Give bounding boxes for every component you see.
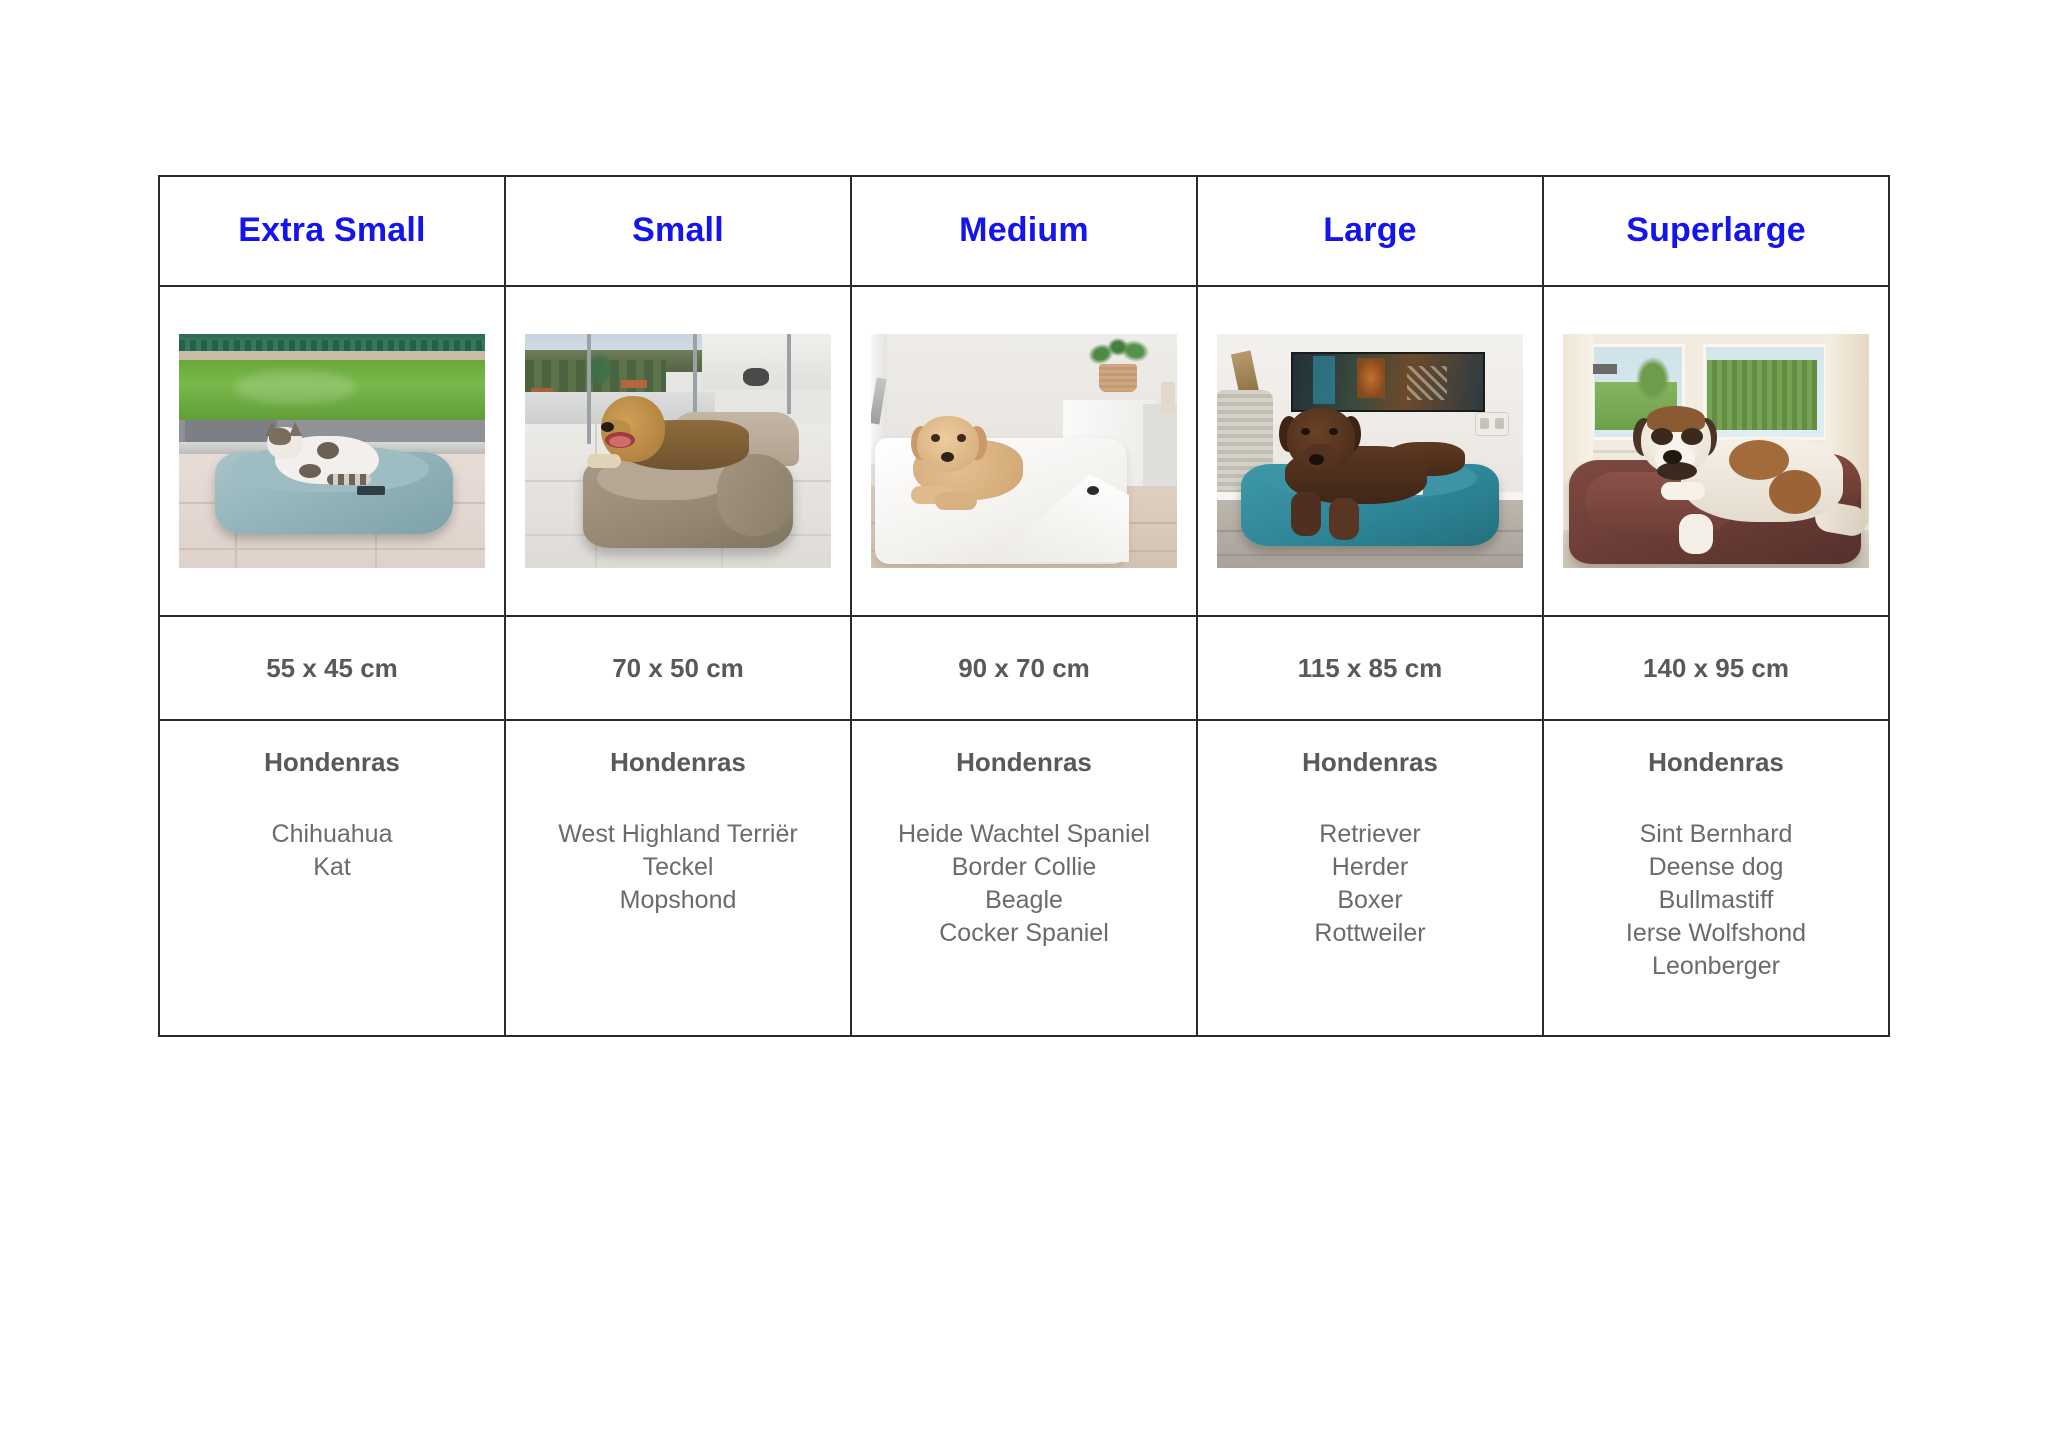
image-cell-superlarge	[1543, 286, 1889, 616]
breed-section-title: Hondenras	[506, 747, 850, 778]
header-cell-extra-small: Extra Small	[159, 176, 505, 286]
table-header-row: Extra Small Small Medium Large Superlarg…	[159, 176, 1889, 286]
terrier-on-taupe-leather-dog-bed-photo	[525, 334, 831, 568]
dimension-cell-large: 115 x 85 cm	[1197, 616, 1543, 720]
dog-bed-size-table: Extra Small Small Medium Large Superlarg…	[158, 175, 1890, 1037]
breed-item: Chihuahua	[160, 818, 504, 851]
breed-item: Leonberger	[1544, 950, 1888, 983]
product-photo-medium	[871, 334, 1177, 568]
breed-cell-small: Hondenras West Highland Terriër Teckel M…	[505, 720, 851, 1036]
size-header-label: Large	[1198, 212, 1542, 249]
breed-item: West Highland Terriër	[506, 818, 850, 851]
table-image-row	[159, 286, 1889, 616]
breed-cell-medium: Hondenras Heide Wachtel Spaniel Border C…	[851, 720, 1197, 1036]
dimension-cell-medium: 90 x 70 cm	[851, 616, 1197, 720]
breed-item: Heide Wachtel Spaniel	[852, 818, 1196, 851]
breed-item: Beagle	[852, 884, 1196, 917]
breed-item: Deense dog	[1544, 851, 1888, 884]
breed-cell-large: Hondenras Retriever Herder Boxer Rottwei…	[1197, 720, 1543, 1036]
breed-item: Herder	[1198, 851, 1542, 884]
table-dimension-row: 55 x 45 cm 70 x 50 cm 90 x 70 cm 115 x 8…	[159, 616, 1889, 720]
cat-on-light-blue-dog-bed-photo	[179, 334, 485, 568]
image-cell-large	[1197, 286, 1543, 616]
breed-section-title: Hondenras	[1544, 747, 1888, 778]
dimension-cell-extra-small: 55 x 45 cm	[159, 616, 505, 720]
size-header-label: Extra Small	[160, 212, 504, 249]
dimension-label: 115 x 85 cm	[1198, 653, 1542, 684]
product-photo-superlarge	[1563, 334, 1869, 568]
image-cell-medium	[851, 286, 1197, 616]
size-header-label: Medium	[852, 212, 1196, 249]
breed-item: Boxer	[1198, 884, 1542, 917]
product-photo-small	[525, 334, 831, 568]
breed-cell-superlarge: Hondenras Sint Bernhard Deense dog Bullm…	[1543, 720, 1889, 1036]
dimension-cell-superlarge: 140 x 95 cm	[1543, 616, 1889, 720]
saint-bernard-on-brown-dog-bed-photo	[1563, 334, 1869, 568]
breed-item: Rottweiler	[1198, 917, 1542, 950]
breed-item: Bullmastiff	[1544, 884, 1888, 917]
breed-item: Kat	[160, 851, 504, 884]
product-photo-large	[1217, 334, 1523, 568]
dimension-label: 90 x 70 cm	[852, 653, 1196, 684]
dimension-label: 55 x 45 cm	[160, 653, 504, 684]
size-header-label: Small	[506, 212, 850, 249]
breed-item: Mopshond	[506, 884, 850, 917]
breed-section-title: Hondenras	[160, 747, 504, 778]
dimension-cell-small: 70 x 50 cm	[505, 616, 851, 720]
header-cell-medium: Medium	[851, 176, 1197, 286]
breed-item: Sint Bernhard	[1544, 818, 1888, 851]
breed-item: Teckel	[506, 851, 850, 884]
breed-section-title: Hondenras	[852, 747, 1196, 778]
breed-item: Border Collie	[852, 851, 1196, 884]
size-header-label: Superlarge	[1544, 212, 1888, 249]
header-cell-superlarge: Superlarge	[1543, 176, 1889, 286]
breed-item: Retriever	[1198, 818, 1542, 851]
image-cell-extra-small	[159, 286, 505, 616]
header-cell-large: Large	[1197, 176, 1543, 286]
document-page: Extra Small Small Medium Large Superlarg…	[0, 0, 2048, 1448]
chocolate-labrador-on-teal-dog-bed-photo	[1217, 334, 1523, 568]
table-breed-row: Hondenras Chihuahua Kat Hondenras West H…	[159, 720, 1889, 1036]
breed-item: Ierse Wolfshond	[1544, 917, 1888, 950]
product-photo-extra-small	[179, 334, 485, 568]
breed-item: Cocker Spaniel	[852, 917, 1196, 950]
header-cell-small: Small	[505, 176, 851, 286]
cockapoo-puppy-on-white-dog-bed-photo	[871, 334, 1177, 568]
dimension-label: 140 x 95 cm	[1544, 653, 1888, 684]
breed-section-title: Hondenras	[1198, 747, 1542, 778]
image-cell-small	[505, 286, 851, 616]
dimension-label: 70 x 50 cm	[506, 653, 850, 684]
breed-cell-extra-small: Hondenras Chihuahua Kat	[159, 720, 505, 1036]
